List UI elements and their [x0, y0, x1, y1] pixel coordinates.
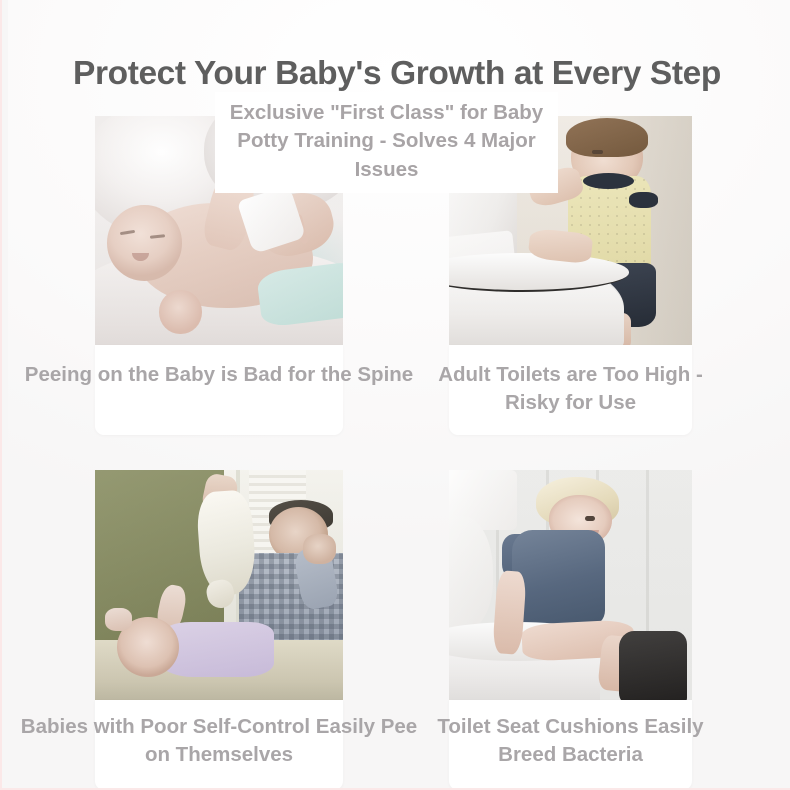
caption-text: Babies with Poor Self-Control Easily Pee…: [15, 713, 423, 768]
baby-head-shape: [107, 205, 181, 281]
father-holding-dirty-diaper-photo: [95, 470, 343, 700]
caption-card: Peeing on the Baby is Bad for the Spine: [95, 345, 343, 435]
toilet-lid-shape: [449, 516, 493, 631]
page-title: Protect Your Baby's Growth at Every Step: [2, 55, 790, 94]
caption-card: Adult Toilets are Too High - Risky for U…: [449, 345, 692, 435]
caption-card: Babies with Poor Self-Control Easily Pee…: [95, 700, 343, 790]
subtitle-banner: Exclusive "First Class" for Baby Potty T…: [215, 92, 558, 193]
promo-page: Protect Your Baby's Growth at Every Step…: [0, 0, 790, 790]
feature-card-bacteria: Toilet Seat Cushions Easily Breed Bacter…: [449, 470, 692, 700]
caption-text: Peeing on the Baby is Bad for the Spine: [15, 361, 423, 389]
caption-text: Toilet Seat Cushions Easily Breed Bacter…: [423, 713, 718, 768]
caption-card: Toilet Seat Cushions Easily Breed Bacter…: [449, 700, 692, 790]
father-hand-shape: [303, 534, 335, 564]
baby-hand-shape: [159, 290, 201, 334]
child-sitting-on-toilet-photo: [449, 470, 692, 700]
child-shirt-shape: [512, 530, 604, 627]
toddler-eye: [592, 150, 603, 154]
caption-text: Adult Toilets are Too High - Risky for U…: [423, 361, 718, 416]
child-eye: [585, 516, 595, 521]
baby-arm-shape: [105, 608, 132, 631]
feature-card-self-control: Babies with Poor Self-Control Easily Pee…: [95, 470, 343, 700]
shirt-sleeve-trim: [629, 192, 658, 208]
lowered-pants-shape: [619, 631, 687, 700]
toddler-hair-shape: [566, 118, 649, 157]
